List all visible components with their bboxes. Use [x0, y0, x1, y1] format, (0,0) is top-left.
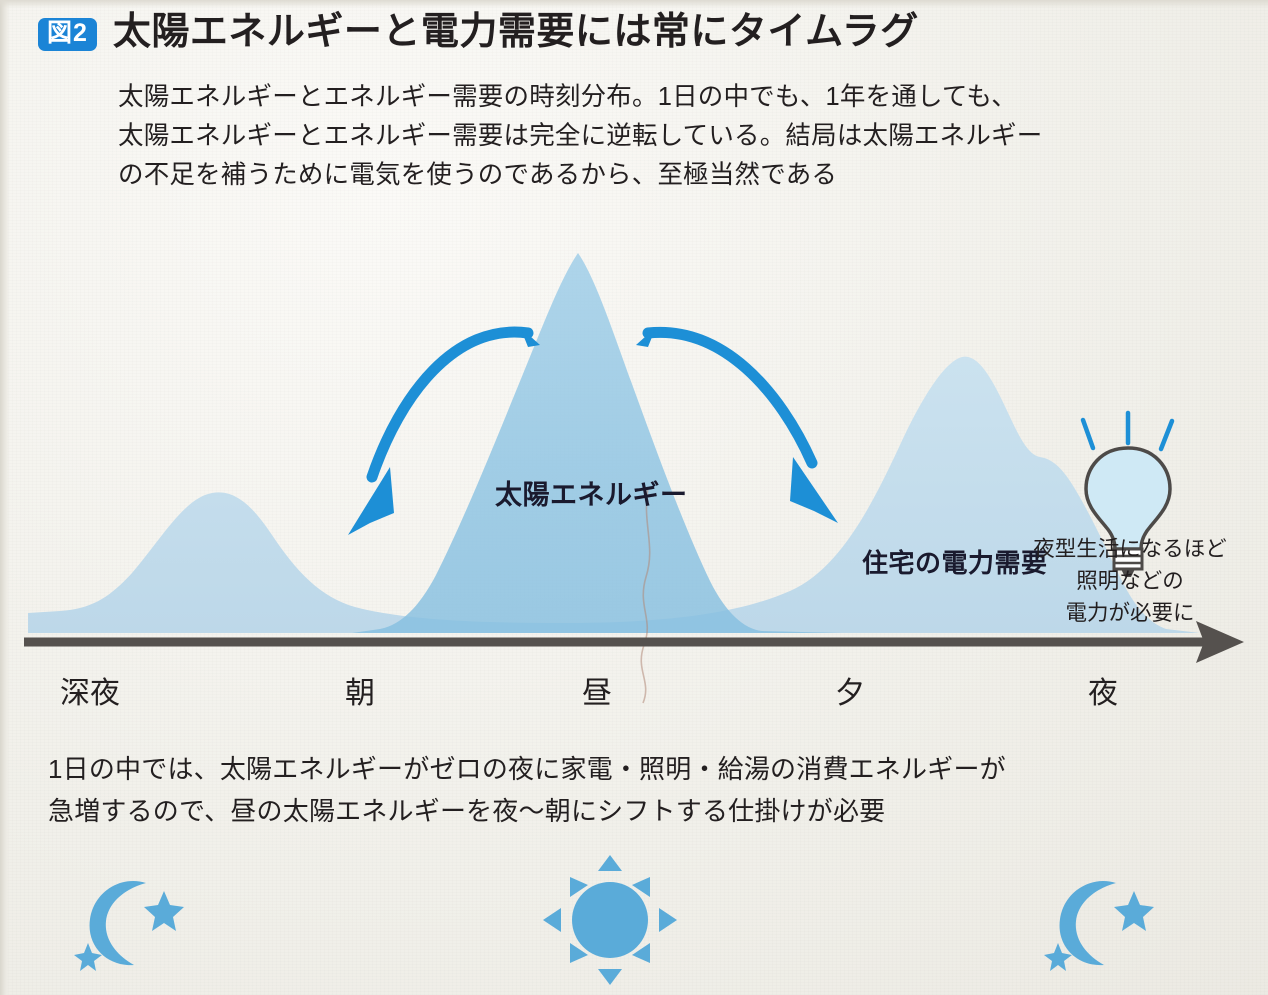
caption-line-1: 1日の中では、太陽エネルギーがゼロの夜に家電・照明・給湯の消費エネルギーが	[48, 748, 1228, 790]
moon-stars-icon	[60, 865, 210, 975]
description-line-3: の不足を補うために電気を使うのであるから、至極当然である	[118, 156, 1238, 195]
energy-timing-chart: 太陽エネルギー 住宅の電力需要 夜型生活になるほど 照明などの 電力が必要に	[0, 205, 1268, 725]
figure-caption: 1日の中では、太陽エネルギーがゼロの夜に家電・照明・給湯の消費エネルギーが 急増…	[48, 748, 1228, 832]
figure-number-badge: 図2	[38, 18, 97, 51]
axis-label-yoru: 夜	[1088, 668, 1118, 712]
moon-stars-icon	[1030, 865, 1180, 975]
axis-tick-labels: 深夜 朝 昼 夕 夜	[0, 668, 1268, 718]
axis-label-shinya: 深夜	[60, 668, 120, 712]
figure-description: 太陽エネルギーとエネルギー需要の時刻分布。1日の中でも、1年を通しても、 太陽エ…	[118, 78, 1238, 195]
axis-label-hiru: 昼	[582, 668, 612, 712]
page-title: 太陽エネルギーと電力需要には常にタイムラグ	[113, 12, 919, 54]
axis-label-yuu: 夕	[835, 668, 865, 712]
figure-header: 図2 太陽エネルギーと電力需要には常にタイムラグ	[38, 12, 919, 54]
description-line-1: 太陽エネルギーとエネルギー需要の時刻分布。1日の中でも、1年を通しても、	[118, 78, 1238, 117]
bulb-note-line-2: 照明などの	[1005, 565, 1255, 597]
bulb-note-line-3: 電力が必要に	[1005, 597, 1255, 629]
shift-arrow-right-path	[648, 332, 812, 463]
bottom-decorative-icons	[0, 855, 1268, 985]
solar-area-path	[352, 253, 842, 633]
caption-line-2: 急増するので、昼の太陽エネルギーを夜〜朝にシフトする仕掛けが必要	[48, 790, 1228, 832]
description-line-2: 太陽エネルギーとエネルギー需要は完全に逆転している。結局は太陽エネルギー	[118, 117, 1238, 156]
series-label-solar: 太陽エネルギー	[495, 473, 688, 512]
sun-icon	[540, 855, 680, 985]
bulb-note-line-1: 夜型生活になるほど	[1005, 533, 1255, 565]
chart-svg	[0, 205, 1268, 725]
lightbulb-annotation: 夜型生活になるほど 照明などの 電力が必要に	[1005, 533, 1255, 629]
axis-label-asa: 朝	[345, 668, 375, 712]
